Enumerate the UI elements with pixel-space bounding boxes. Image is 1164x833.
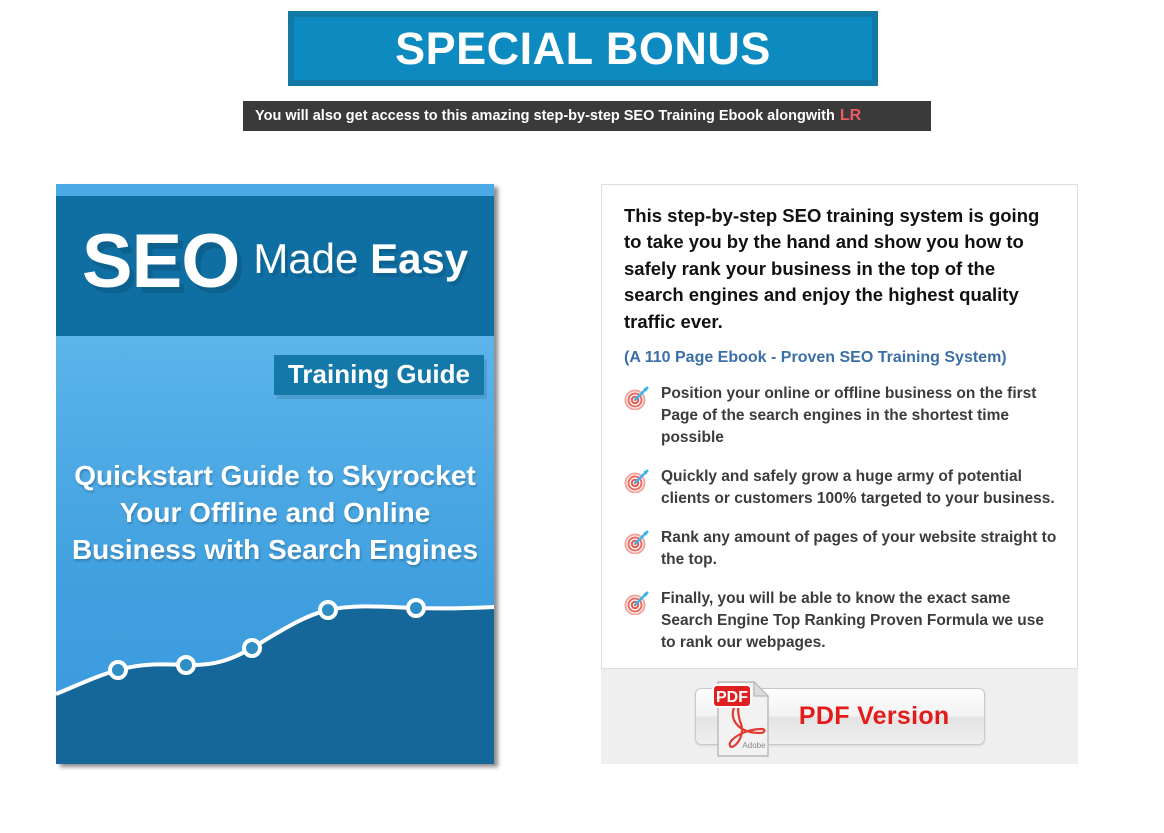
cover-training-guide-badge: Training Guide (274, 355, 484, 395)
pdf-icon-brand-text: Adobe (742, 741, 766, 750)
panel-headline: This step-by-step SEO training system is… (624, 203, 1057, 335)
list-item: Position your online or offline business… (624, 383, 1057, 449)
cover-top-rule (56, 184, 494, 196)
benefit-list: Position your online or offline business… (624, 383, 1057, 654)
subtitle-accent-lr: LR (840, 107, 861, 125)
target-dart-icon (624, 589, 652, 615)
list-item: Rank any amount of pages of your website… (624, 527, 1057, 571)
subtitle-text: You will also get access to this amazing… (255, 108, 835, 124)
list-item: Finally, you will be able to know the ex… (624, 588, 1057, 654)
cover-title-made: Made (253, 235, 370, 282)
target-dart-icon (624, 528, 652, 554)
bonus-description-panel: This step-by-step SEO training system is… (601, 184, 1078, 669)
pdf-version-label: PDF Version (799, 702, 950, 731)
cover-title-seo: SEO (82, 224, 240, 300)
list-item: Quickly and safely grow a huge army of p… (624, 466, 1057, 510)
pdf-version-button[interactable]: PDF Adobe PDF Version (695, 688, 985, 745)
banner-title: SPECIAL BONUS (395, 26, 771, 71)
cover-tagline: Quickstart Guide to Skyrocket Your Offli… (56, 458, 494, 569)
panel-subline: (A 110 Page Ebook - Proven SEO Training … (624, 348, 1057, 369)
adobe-pdf-icon: PDF Adobe (710, 672, 774, 762)
cover-title-easy: Easy (370, 235, 468, 282)
pdf-footer-bar: PDF Adobe PDF Version (601, 669, 1078, 764)
list-item-label: Rank any amount of pages of your website… (661, 527, 1057, 571)
pdf-icon-badge-text: PDF (716, 689, 748, 706)
special-bonus-banner: SPECIAL BONUS (288, 11, 878, 86)
cover-growth-chart-graphic (56, 574, 494, 764)
target-dart-icon (624, 467, 652, 493)
target-dart-icon (624, 384, 652, 410)
cover-lower-section: Training Guide Quickstart Guide to Skyro… (56, 336, 494, 764)
list-item-label: Finally, you will be able to know the ex… (661, 588, 1057, 654)
cover-title-band: SEO Made Easy (56, 196, 494, 336)
list-item-label: Quickly and safely grow a huge army of p… (661, 466, 1057, 510)
cover-title-made-easy: Made Easy (253, 238, 468, 286)
ebook-cover-image: SEO Made Easy Training Guide Quickstart … (56, 184, 494, 764)
list-item-label: Position your online or offline business… (661, 383, 1057, 449)
subtitle-bar: You will also get access to this amazing… (243, 101, 931, 131)
